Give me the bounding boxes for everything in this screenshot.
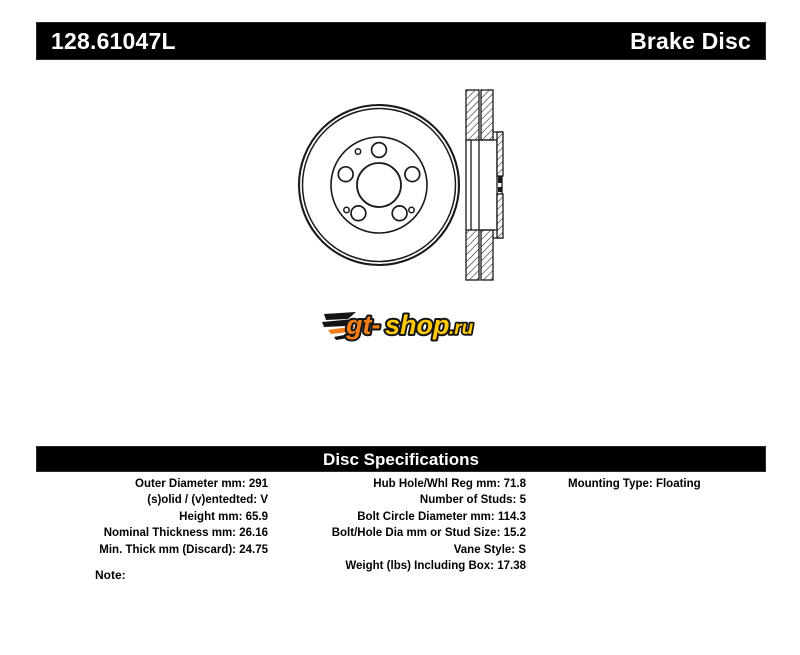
note-row: Note: bbox=[36, 568, 766, 582]
part-number: 128.61047L bbox=[51, 30, 176, 53]
spec-row: Bolt Circle Diameter mm: 114.3 bbox=[272, 509, 526, 525]
spec-label: Min. Thick mm (Discard): bbox=[99, 544, 236, 556]
spec-label: Outer Diameter mm: bbox=[135, 478, 246, 490]
header-bar: 128.61047L Brake Disc bbox=[36, 22, 766, 60]
spec-column-left: Outer Diameter mm: 291 (s)olid / (v)ente… bbox=[36, 476, 268, 558]
spec-label: Number of Studs: bbox=[420, 494, 516, 506]
product-type-title: Brake Disc bbox=[630, 30, 751, 53]
spec-label: Height mm: bbox=[179, 511, 242, 523]
spec-value: S bbox=[518, 544, 526, 556]
spec-value: 26.16 bbox=[239, 527, 268, 539]
spec-row: Min. Thick mm (Discard): 24.75 bbox=[36, 542, 268, 558]
disc-specifications-bar: Disc Specifications bbox=[36, 446, 766, 472]
spec-value: 15.2 bbox=[504, 527, 526, 539]
spec-value: 291 bbox=[249, 478, 268, 490]
spec-label: Nominal Thickness mm: bbox=[104, 527, 236, 539]
brake-rotor-face-view bbox=[299, 105, 459, 265]
spec-value: 65.9 bbox=[246, 511, 268, 523]
gt-shop-watermark-logo: gt- gt- shop shop .ru .ru bbox=[322, 300, 494, 352]
spec-row: Bolt/Hole Dia mm or Stud Size: 15.2 bbox=[272, 525, 526, 541]
watermark-gt: gt- bbox=[345, 310, 380, 340]
watermark-shop: shop bbox=[385, 310, 450, 340]
spec-row: Outer Diameter mm: 291 bbox=[36, 476, 268, 492]
lug-holes bbox=[338, 143, 419, 221]
spec-label: Vane Style: bbox=[454, 544, 515, 556]
spec-row: Number of Studs: 5 bbox=[272, 492, 526, 508]
watermark-tld: .ru bbox=[449, 318, 474, 339]
watermark-wordmark: gt- gt- shop shop .ru .ru bbox=[345, 310, 474, 340]
spec-label: Mounting Type: bbox=[568, 478, 653, 490]
spec-value: Floating bbox=[656, 478, 701, 490]
spec-label: Bolt/Hole Dia mm or Stud Size: bbox=[332, 527, 501, 539]
spec-label: (s)olid / (v)entedted: bbox=[147, 494, 257, 506]
spec-label: Hub Hole/Whl Reg mm: bbox=[373, 478, 500, 490]
spec-value: 24.75 bbox=[239, 544, 268, 556]
spec-row: Mounting Type: Floating bbox=[568, 476, 766, 492]
spec-row: (s)olid / (v)entedted: V bbox=[36, 492, 268, 508]
spec-label: Bolt Circle Diameter mm: bbox=[357, 511, 494, 523]
specifications-body: Outer Diameter mm: 291 (s)olid / (v)ente… bbox=[36, 476, 766, 574]
note-label: Note: bbox=[95, 568, 126, 582]
spec-value: 71.8 bbox=[504, 478, 526, 490]
disc-specifications-title: Disc Specifications bbox=[323, 451, 479, 468]
brake-rotor-cross-section-view bbox=[466, 90, 503, 280]
spec-row: Height mm: 65.9 bbox=[36, 509, 268, 525]
spec-value: 114.3 bbox=[498, 511, 526, 523]
spec-column-right: Mounting Type: Floating bbox=[526, 476, 766, 492]
spec-row: Hub Hole/Whl Reg mm: 71.8 bbox=[272, 476, 526, 492]
spec-column-middle: Hub Hole/Whl Reg mm: 71.8 Number of Stud… bbox=[268, 476, 526, 574]
spec-value: 5 bbox=[520, 494, 526, 506]
note-value bbox=[126, 568, 130, 582]
spec-row: Nominal Thickness mm: 26.16 bbox=[36, 525, 268, 541]
spec-row: Vane Style: S bbox=[272, 542, 526, 558]
pilot-holes bbox=[344, 149, 414, 213]
spec-value: V bbox=[260, 494, 268, 506]
